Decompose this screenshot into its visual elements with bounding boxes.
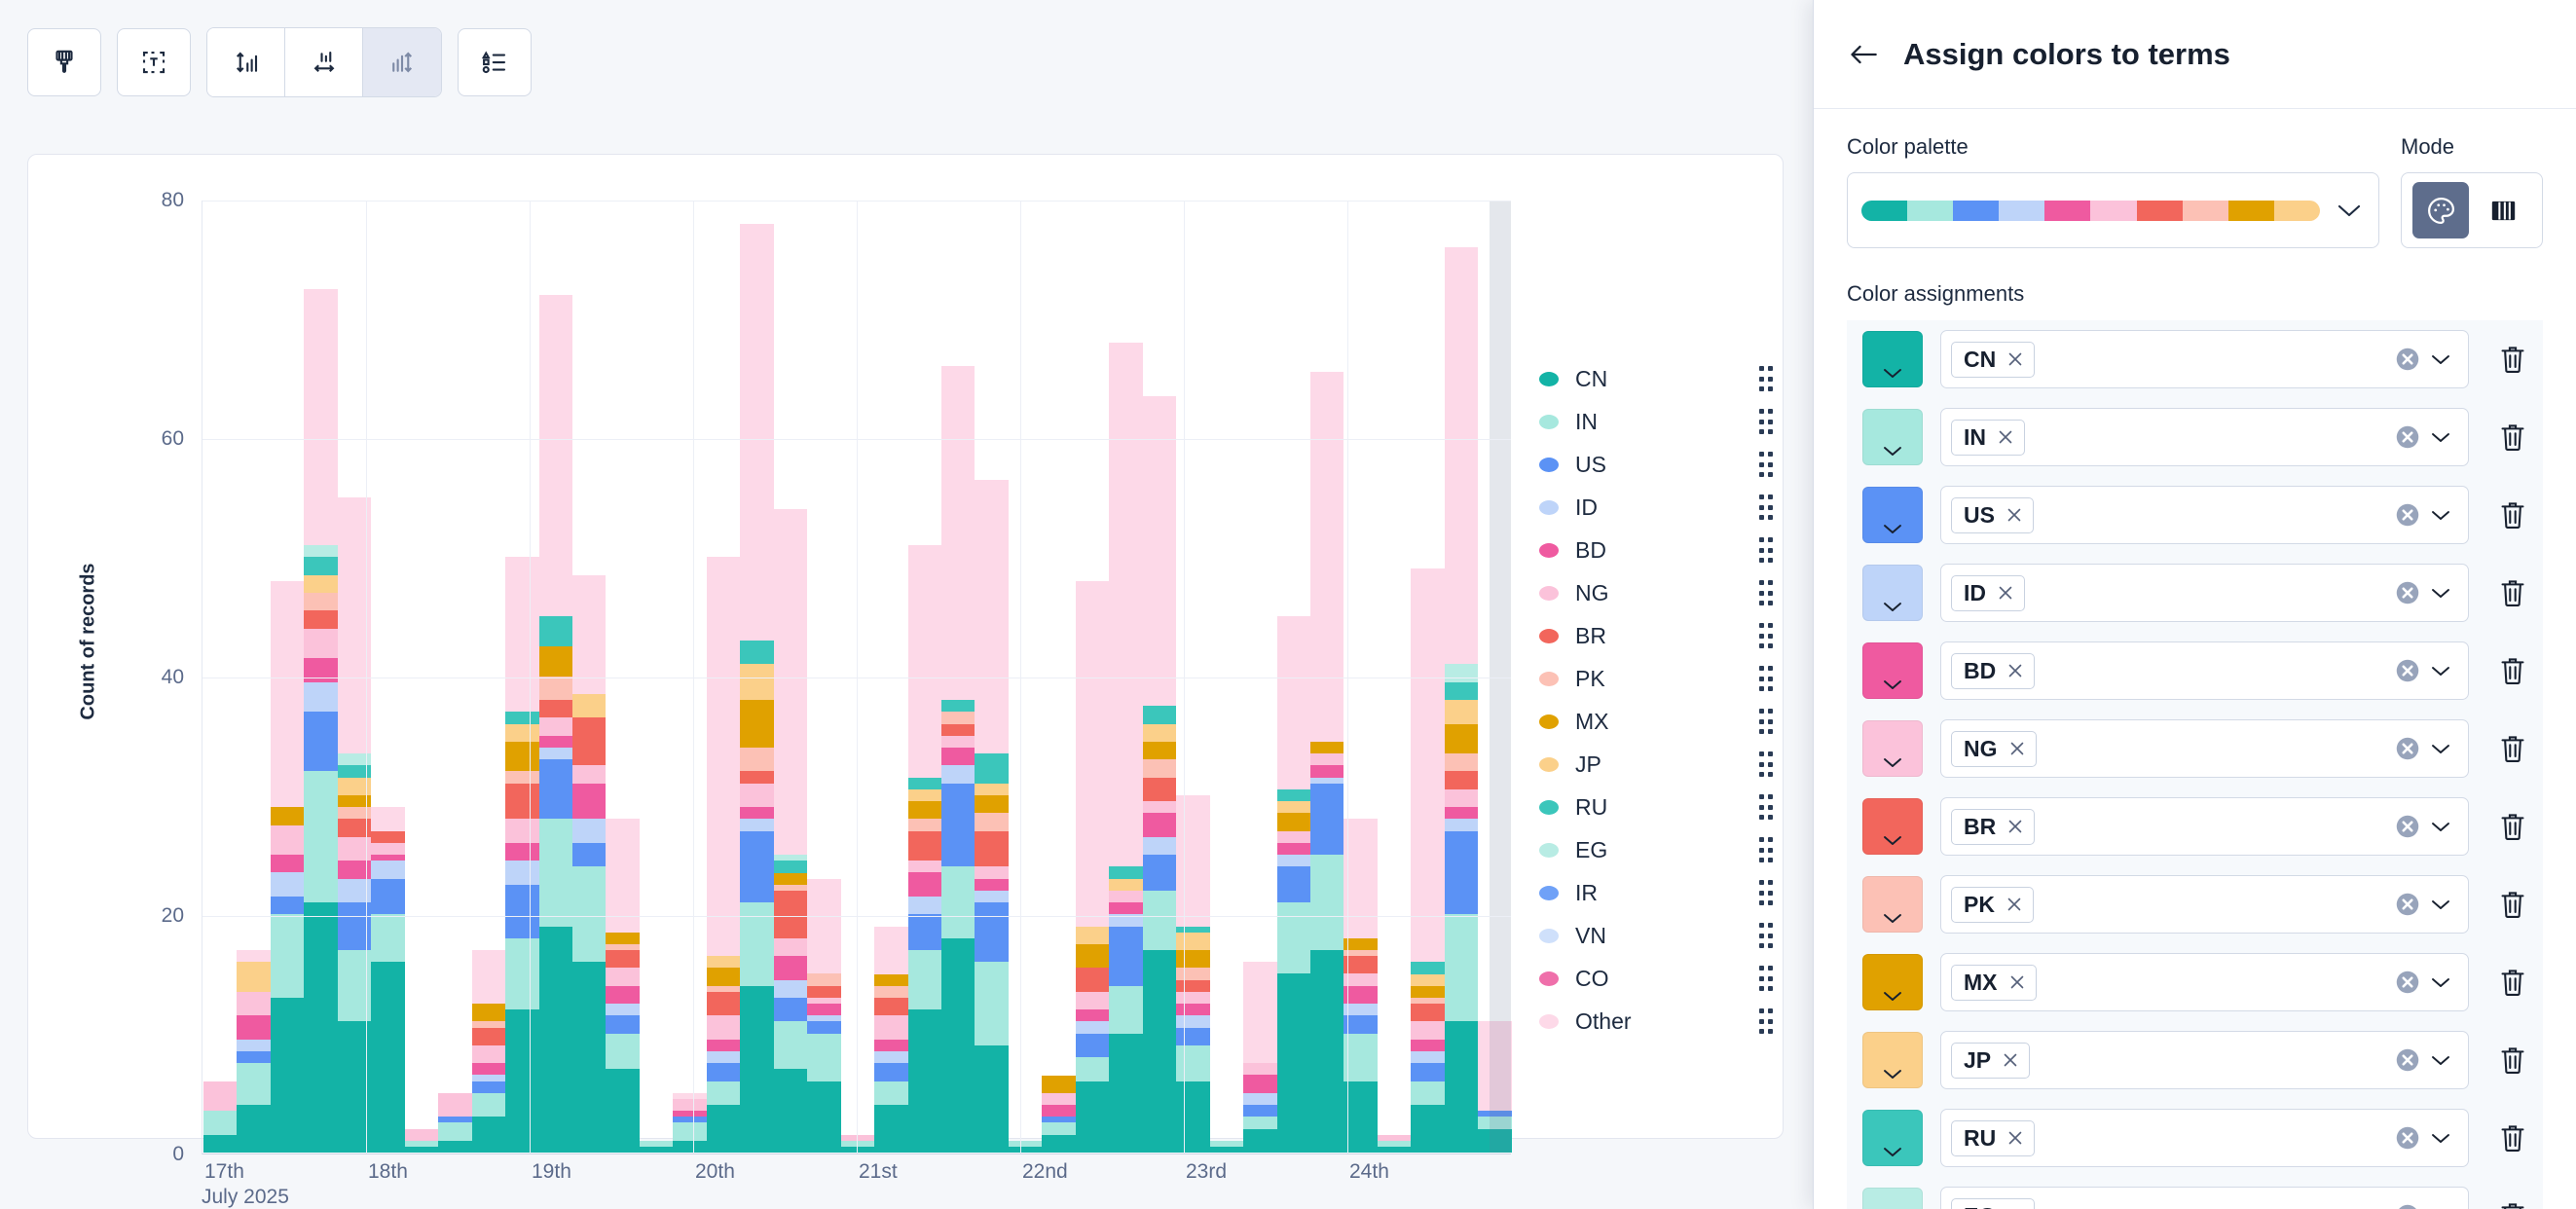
bar-segment[interactable] [405, 1129, 438, 1141]
bar-segment[interactable] [1277, 801, 1310, 813]
bar-segment[interactable] [237, 1015, 270, 1039]
bar-segment[interactable] [1411, 1021, 1444, 1039]
bar-segment[interactable] [572, 819, 606, 842]
color-palette-select[interactable] [1847, 172, 2379, 248]
bar-segment[interactable] [1143, 950, 1176, 1153]
bar-segment[interactable] [640, 1147, 673, 1153]
delete-assignment-button[interactable] [2486, 499, 2539, 531]
bar-segment[interactable] [1109, 902, 1142, 914]
bar-segment[interactable] [1343, 938, 1377, 950]
bar-stack[interactable] [405, 200, 438, 1153]
bar-segment[interactable] [1243, 1105, 1276, 1117]
bar-segment[interactable] [438, 1141, 471, 1153]
bar-stack[interactable] [271, 200, 304, 1153]
bar-segment[interactable] [1445, 807, 1478, 819]
bar-segment[interactable] [740, 771, 773, 783]
bar-segment[interactable] [1176, 1081, 1209, 1153]
bar-segment[interactable] [908, 789, 941, 801]
bar-segment[interactable] [237, 1040, 270, 1051]
bar-segment[interactable] [606, 1015, 639, 1033]
bar-segment[interactable] [874, 927, 907, 974]
bar-segment[interactable] [572, 962, 606, 1153]
bar-segment[interactable] [1143, 742, 1176, 759]
bar-segment[interactable] [1411, 1063, 1444, 1081]
bar-segment[interactable] [606, 1034, 639, 1070]
bar-segment[interactable] [1411, 1051, 1444, 1063]
bar-segment[interactable] [1109, 927, 1142, 986]
bar-segment[interactable] [237, 962, 270, 992]
bar-segment[interactable] [707, 1015, 740, 1039]
bar-segment[interactable] [941, 712, 975, 723]
drag-handle-icon[interactable] [1759, 751, 1773, 777]
bar-segment[interactable] [1076, 1034, 1109, 1057]
legend-item[interactable]: IN [1539, 400, 1773, 443]
delete-assignment-button[interactable] [2486, 967, 2539, 998]
palette-mode-button[interactable] [2412, 182, 2469, 238]
bar-segment[interactable] [505, 938, 538, 1009]
bar-segment[interactable] [1076, 968, 1109, 991]
color-swatch-button[interactable] [1862, 565, 1923, 621]
bar-segment[interactable] [271, 807, 304, 824]
bar-stack[interactable] [539, 200, 572, 1153]
bar-stack[interactable] [941, 200, 975, 1153]
bar-segment[interactable] [1445, 724, 1478, 754]
bar-segment[interactable] [774, 938, 807, 956]
bar-segment[interactable] [1076, 1009, 1109, 1021]
bar-segment[interactable] [740, 224, 773, 641]
bar-stack[interactable] [707, 200, 740, 1153]
remove-term-icon[interactable] [2006, 350, 2024, 368]
bar-segment[interactable] [807, 973, 840, 985]
bar-segment[interactable] [908, 897, 941, 914]
bar-segment[interactable] [371, 807, 404, 830]
bar-segment[interactable] [707, 1081, 740, 1105]
bar-segment[interactable] [371, 843, 404, 855]
bar-segment[interactable] [975, 795, 1008, 813]
bar-segment[interactable] [1445, 914, 1478, 1021]
bar-segment[interactable] [472, 1093, 505, 1117]
term-combobox[interactable]: RU [1940, 1109, 2469, 1167]
bar-segment[interactable] [572, 765, 606, 783]
bar-segment[interactable] [1277, 866, 1310, 902]
bar-stack[interactable] [1176, 200, 1209, 1153]
remove-term-icon[interactable] [2006, 506, 2023, 524]
bar-segment[interactable] [874, 1105, 907, 1153]
bar-segment[interactable] [505, 557, 538, 712]
bar-segment[interactable] [941, 366, 975, 700]
bar-segment[interactable] [908, 778, 941, 789]
bar-segment[interactable] [1343, 1081, 1377, 1153]
remove-term-icon[interactable] [1997, 428, 2014, 446]
bar-stack[interactable] [1042, 200, 1075, 1153]
bar-segment[interactable] [1076, 1081, 1109, 1153]
clear-selection-icon[interactable] [2393, 1045, 2422, 1075]
paintbrush-button[interactable] [27, 28, 101, 96]
bar-segment[interactable] [1243, 1093, 1276, 1105]
bar-segment[interactable] [1176, 933, 1209, 950]
bar-segment[interactable] [472, 1063, 505, 1075]
drag-handle-icon[interactable] [1759, 366, 1773, 391]
delete-assignment-button[interactable] [2486, 655, 2539, 686]
bar-segment[interactable] [539, 677, 572, 700]
bar-segment[interactable] [505, 819, 538, 842]
drag-handle-icon[interactable] [1759, 666, 1773, 691]
bar-stack[interactable] [1445, 200, 1478, 1153]
bar-stack[interactable] [807, 200, 840, 1153]
bar-segment[interactable] [707, 992, 740, 1015]
bar-segment[interactable] [606, 1004, 639, 1015]
bar-stack[interactable] [640, 200, 673, 1153]
bar-segment[interactable] [807, 879, 840, 974]
bar-segment[interactable] [1176, 1045, 1209, 1081]
color-swatch-button[interactable] [1862, 1110, 1923, 1166]
bar-segment[interactable] [1243, 1063, 1276, 1075]
bar-segment[interactable] [740, 986, 773, 1153]
bar-segment[interactable] [740, 831, 773, 902]
bar-segment[interactable] [539, 736, 572, 748]
bar-segment[interactable] [1411, 1040, 1444, 1051]
bar-stack[interactable] [1310, 200, 1343, 1153]
bar-segment[interactable] [1143, 778, 1176, 801]
bar-segment[interactable] [304, 545, 337, 557]
bar-segment[interactable] [908, 861, 941, 872]
bar-segment[interactable] [304, 557, 337, 574]
bar-segment[interactable] [1445, 247, 1478, 664]
bar-segment[interactable] [740, 700, 773, 748]
bar-segment[interactable] [941, 700, 975, 712]
drag-handle-icon[interactable] [1759, 923, 1773, 948]
delete-assignment-button[interactable] [2486, 344, 2539, 375]
bar-segment[interactable] [673, 1099, 706, 1111]
bar-segment[interactable] [572, 866, 606, 962]
bar-segment[interactable] [874, 998, 907, 1015]
bar-segment[interactable] [707, 956, 740, 968]
bar-stack[interactable] [908, 200, 941, 1153]
bar-segment[interactable] [774, 998, 807, 1021]
bar-segment[interactable] [707, 968, 740, 985]
bar-segment[interactable] [707, 1040, 740, 1051]
bar-segment[interactable] [1445, 753, 1478, 771]
bar-segment[interactable] [874, 1063, 907, 1081]
legend-list-button[interactable] [458, 28, 532, 96]
bar-segment[interactable] [1176, 1015, 1209, 1027]
term-combobox[interactable]: ID [1940, 564, 2469, 622]
drag-handle-icon[interactable] [1759, 794, 1773, 820]
bar-segment[interactable] [1343, 1004, 1377, 1015]
bar-stack[interactable] [572, 200, 606, 1153]
bar-segment[interactable] [606, 933, 639, 944]
bar-segment[interactable] [1042, 1093, 1075, 1105]
bar-stack[interactable] [740, 200, 773, 1153]
color-swatch-button[interactable] [1862, 1032, 1923, 1088]
bar-segment[interactable] [572, 694, 606, 717]
bar-segment[interactable] [774, 980, 807, 998]
bar-segment[interactable] [874, 1040, 907, 1051]
bar-stack[interactable] [371, 200, 404, 1153]
bar-segment[interactable] [908, 831, 941, 861]
bar-stack[interactable] [237, 200, 270, 1153]
bar-segment[interactable] [874, 1015, 907, 1039]
delete-assignment-button[interactable] [2486, 1044, 2539, 1076]
bar-segment[interactable] [975, 480, 1008, 753]
bar-stack[interactable] [505, 200, 538, 1153]
bar-segment[interactable] [304, 902, 337, 1153]
bar-segment[interactable] [707, 557, 740, 956]
bar-segment[interactable] [438, 1093, 471, 1117]
bar-segment[interactable] [1445, 1021, 1478, 1153]
color-swatch-button[interactable] [1862, 1188, 1923, 1209]
bar-segment[interactable] [606, 950, 639, 968]
term-combobox[interactable]: NG [1940, 719, 2469, 778]
clear-selection-icon[interactable] [2393, 1201, 2422, 1209]
bar-segment[interactable] [1143, 706, 1176, 723]
bar-segment[interactable] [1343, 986, 1377, 1004]
legend-item[interactable]: VN [1539, 914, 1773, 957]
remove-term-icon[interactable] [1997, 584, 2014, 602]
bar-segment[interactable] [1411, 1004, 1444, 1021]
color-swatch-button[interactable] [1862, 409, 1923, 465]
bar-segment[interactable] [975, 902, 1008, 962]
color-swatch-button[interactable] [1862, 642, 1923, 699]
clear-selection-icon[interactable] [2393, 345, 2422, 374]
bar-segment[interactable] [1176, 1028, 1209, 1045]
bar-segment[interactable] [975, 813, 1008, 830]
bar-segment[interactable] [740, 784, 773, 807]
bar-segment[interactable] [807, 1034, 840, 1081]
bar-stack[interactable] [472, 200, 505, 1153]
bar-segment[interactable] [1310, 753, 1343, 765]
bar-segment[interactable] [975, 891, 1008, 902]
bar-segment[interactable] [237, 1051, 270, 1063]
color-swatch-button[interactable] [1862, 798, 1923, 855]
stacked-bars-button[interactable] [363, 28, 441, 96]
bar-segment[interactable] [707, 1051, 740, 1063]
drag-handle-icon[interactable] [1759, 580, 1773, 605]
combobox-chevron-icon[interactable] [2431, 898, 2456, 910]
bar-segment[interactable] [304, 289, 337, 545]
bar-segment[interactable] [237, 1063, 270, 1105]
color-swatch-button[interactable] [1862, 954, 1923, 1010]
bar-segment[interactable] [1042, 1135, 1075, 1153]
clear-selection-icon[interactable] [2393, 656, 2422, 685]
bar-stack[interactable] [874, 200, 907, 1153]
bar-segment[interactable] [1445, 819, 1478, 830]
bar-segment[interactable] [1343, 973, 1377, 985]
drag-handle-icon[interactable] [1759, 1008, 1773, 1034]
bar-segment[interactable] [203, 1135, 237, 1153]
bar-segment[interactable] [539, 295, 572, 616]
bar-segment[interactable] [271, 581, 304, 808]
bar-segment[interactable] [1310, 372, 1343, 741]
color-swatch-button[interactable] [1862, 487, 1923, 543]
delete-assignment-button[interactable] [2486, 1122, 2539, 1154]
bar-segment[interactable] [807, 1081, 840, 1153]
bar-segment[interactable] [1109, 891, 1142, 902]
bar-segment[interactable] [1143, 759, 1176, 777]
term-combobox[interactable]: BD [1940, 641, 2469, 700]
bar-segment[interactable] [1042, 1105, 1075, 1117]
term-combobox[interactable]: CN [1940, 330, 2469, 388]
delete-assignment-button[interactable] [2486, 577, 2539, 608]
bar-segment[interactable] [505, 724, 538, 742]
bar-segment[interactable] [908, 1009, 941, 1153]
term-combobox[interactable]: US [1940, 486, 2469, 544]
delete-assignment-button[interactable] [2486, 1200, 2539, 1209]
clear-selection-icon[interactable] [2393, 890, 2422, 919]
bar-segment[interactable] [505, 771, 538, 783]
color-swatch-button[interactable] [1862, 331, 1923, 387]
drag-handle-icon[interactable] [1759, 537, 1773, 563]
bar-segment[interactable] [1445, 771, 1478, 788]
bar-segment[interactable] [908, 819, 941, 830]
delete-assignment-button[interactable] [2486, 889, 2539, 920]
bar-segment[interactable] [807, 986, 840, 998]
bar-segment[interactable] [774, 873, 807, 885]
bar-segment[interactable] [1277, 843, 1310, 855]
remove-term-icon[interactable] [2006, 1129, 2024, 1147]
bar-segment[interactable] [1445, 831, 1478, 915]
bar-segment[interactable] [774, 1069, 807, 1153]
remove-term-icon[interactable] [2008, 973, 2026, 991]
bar-segment[interactable] [975, 879, 1008, 891]
bar-segment[interactable] [606, 968, 639, 985]
bar-segment[interactable] [304, 575, 337, 593]
bar-segment[interactable] [1176, 795, 1209, 927]
bar-segment[interactable] [774, 861, 807, 872]
bar-segment[interactable] [237, 1105, 270, 1153]
delete-assignment-button[interactable] [2486, 421, 2539, 453]
bar-segment[interactable] [271, 914, 304, 998]
vertical-axis-button[interactable] [207, 28, 285, 96]
bar-segment[interactable] [1143, 813, 1176, 836]
bar-segment[interactable] [505, 843, 538, 861]
combobox-chevron-icon[interactable] [2431, 665, 2456, 677]
bar-segment[interactable] [539, 700, 572, 717]
drag-handle-icon[interactable] [1759, 452, 1773, 477]
bar-segment[interactable] [1042, 1076, 1075, 1093]
bar-segment[interactable] [1411, 986, 1444, 998]
bar-segment[interactable] [1310, 765, 1343, 777]
bar-segment[interactable] [1109, 1034, 1142, 1153]
drag-handle-icon[interactable] [1759, 409, 1773, 434]
bar-segment[interactable] [707, 1105, 740, 1153]
bar-segment[interactable] [472, 1045, 505, 1063]
remove-term-icon[interactable] [2006, 662, 2024, 679]
bar-segment[interactable] [1310, 742, 1343, 753]
drag-handle-icon[interactable] [1759, 880, 1773, 905]
legend-item[interactable]: JP [1539, 743, 1773, 786]
legend-item[interactable]: US [1539, 443, 1773, 486]
bar-segment[interactable] [807, 1004, 840, 1015]
bar-segment[interactable] [472, 1004, 505, 1021]
bar-segment[interactable] [1445, 664, 1478, 681]
bar-segment[interactable] [539, 616, 572, 646]
bar-segment[interactable] [606, 1069, 639, 1153]
bar-segment[interactable] [1343, 819, 1377, 937]
legend-item[interactable]: EG [1539, 828, 1773, 871]
bar-segment[interactable] [774, 509, 807, 855]
bar-segment[interactable] [1243, 1117, 1276, 1128]
clear-selection-icon[interactable] [2393, 812, 2422, 841]
bar-segment[interactable] [539, 927, 572, 1154]
bar-segment[interactable] [975, 753, 1008, 784]
bar-segment[interactable] [505, 885, 538, 938]
bar-segment[interactable] [572, 784, 606, 820]
bar-segment[interactable] [975, 831, 1008, 867]
bar-segment[interactable] [740, 819, 773, 830]
clear-selection-icon[interactable] [2393, 1123, 2422, 1153]
bar-stack[interactable] [1210, 200, 1243, 1153]
combobox-chevron-icon[interactable] [2431, 431, 2456, 443]
legend-item[interactable]: CN [1539, 357, 1773, 400]
bar-segment[interactable] [539, 717, 572, 735]
bar-segment[interactable] [371, 831, 404, 843]
term-combobox[interactable]: EG [1940, 1187, 2469, 1209]
bar-segment[interactable] [740, 748, 773, 771]
bar-segment[interactable] [908, 801, 941, 819]
bar-segment[interactable] [1176, 950, 1209, 968]
remove-term-icon[interactable] [2006, 896, 2023, 913]
bar-segment[interactable] [472, 1117, 505, 1153]
bar-segment[interactable] [1210, 1147, 1243, 1153]
bar-segment[interactable] [304, 629, 337, 659]
bar-segment[interactable] [606, 986, 639, 1004]
bar-segment[interactable] [673, 1122, 706, 1140]
bar-segment[interactable] [740, 641, 773, 664]
bar-segment[interactable] [975, 866, 1008, 878]
bar-stack[interactable] [438, 200, 471, 1153]
bar-segment[interactable] [472, 1028, 505, 1045]
bar-segment[interactable] [371, 879, 404, 915]
bar-segment[interactable] [975, 962, 1008, 1045]
bar-stack[interactable] [1109, 200, 1142, 1153]
bar-segment[interactable] [505, 784, 538, 820]
bar-segment[interactable] [572, 717, 606, 765]
bar-segment[interactable] [1277, 813, 1310, 830]
remove-term-icon[interactable] [2008, 740, 2026, 757]
bar-segment[interactable] [1277, 831, 1310, 843]
bar-segment[interactable] [1176, 992, 1209, 1004]
bar-segment[interactable] [1076, 1021, 1109, 1033]
bar-segment[interactable] [304, 682, 337, 713]
bar-segment[interactable] [941, 736, 975, 748]
bar-segment[interactable] [371, 861, 404, 878]
bar-segment[interactable] [405, 1147, 438, 1153]
bar-segment[interactable] [1143, 837, 1176, 855]
bar-segment[interactable] [975, 784, 1008, 795]
bar-segment[interactable] [1277, 902, 1310, 973]
clear-selection-icon[interactable] [2393, 968, 2422, 997]
bar-segment[interactable] [572, 575, 606, 694]
bar-stack[interactable] [1243, 200, 1276, 1153]
bar-segment[interactable] [1277, 973, 1310, 1153]
combobox-chevron-icon[interactable] [2431, 821, 2456, 832]
bar-segment[interactable] [1143, 724, 1176, 742]
bar-segment[interactable] [941, 724, 975, 736]
bar-segment[interactable] [271, 855, 304, 872]
remove-term-icon[interactable] [2002, 1051, 2019, 1069]
bar-segment[interactable] [1243, 1075, 1276, 1092]
bar-stack[interactable] [203, 200, 237, 1153]
bar-segment[interactable] [371, 962, 404, 1153]
bar-segment[interactable] [1143, 801, 1176, 813]
bar-segment[interactable] [1109, 343, 1142, 866]
delete-assignment-button[interactable] [2486, 733, 2539, 764]
bar-segment[interactable] [1411, 974, 1444, 986]
bar-segment[interactable] [975, 1045, 1008, 1153]
clear-selection-icon[interactable] [2393, 422, 2422, 452]
bar-segment[interactable] [1378, 1147, 1411, 1153]
